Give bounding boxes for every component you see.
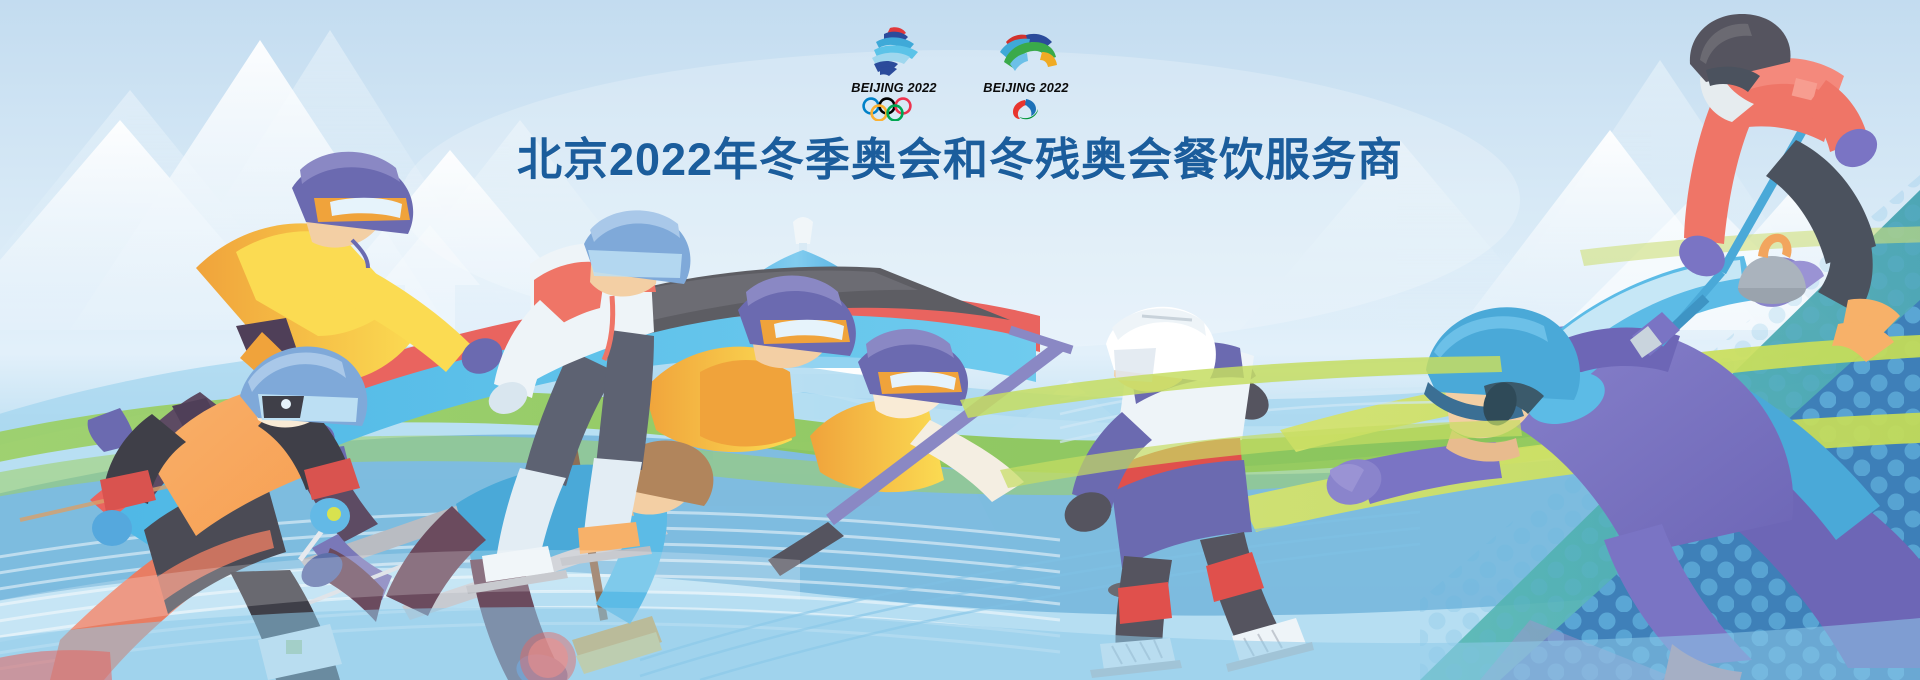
ribbon-waves-front	[0, 0, 1920, 680]
olympics-banner: BEIJING 2022	[0, 0, 1920, 680]
